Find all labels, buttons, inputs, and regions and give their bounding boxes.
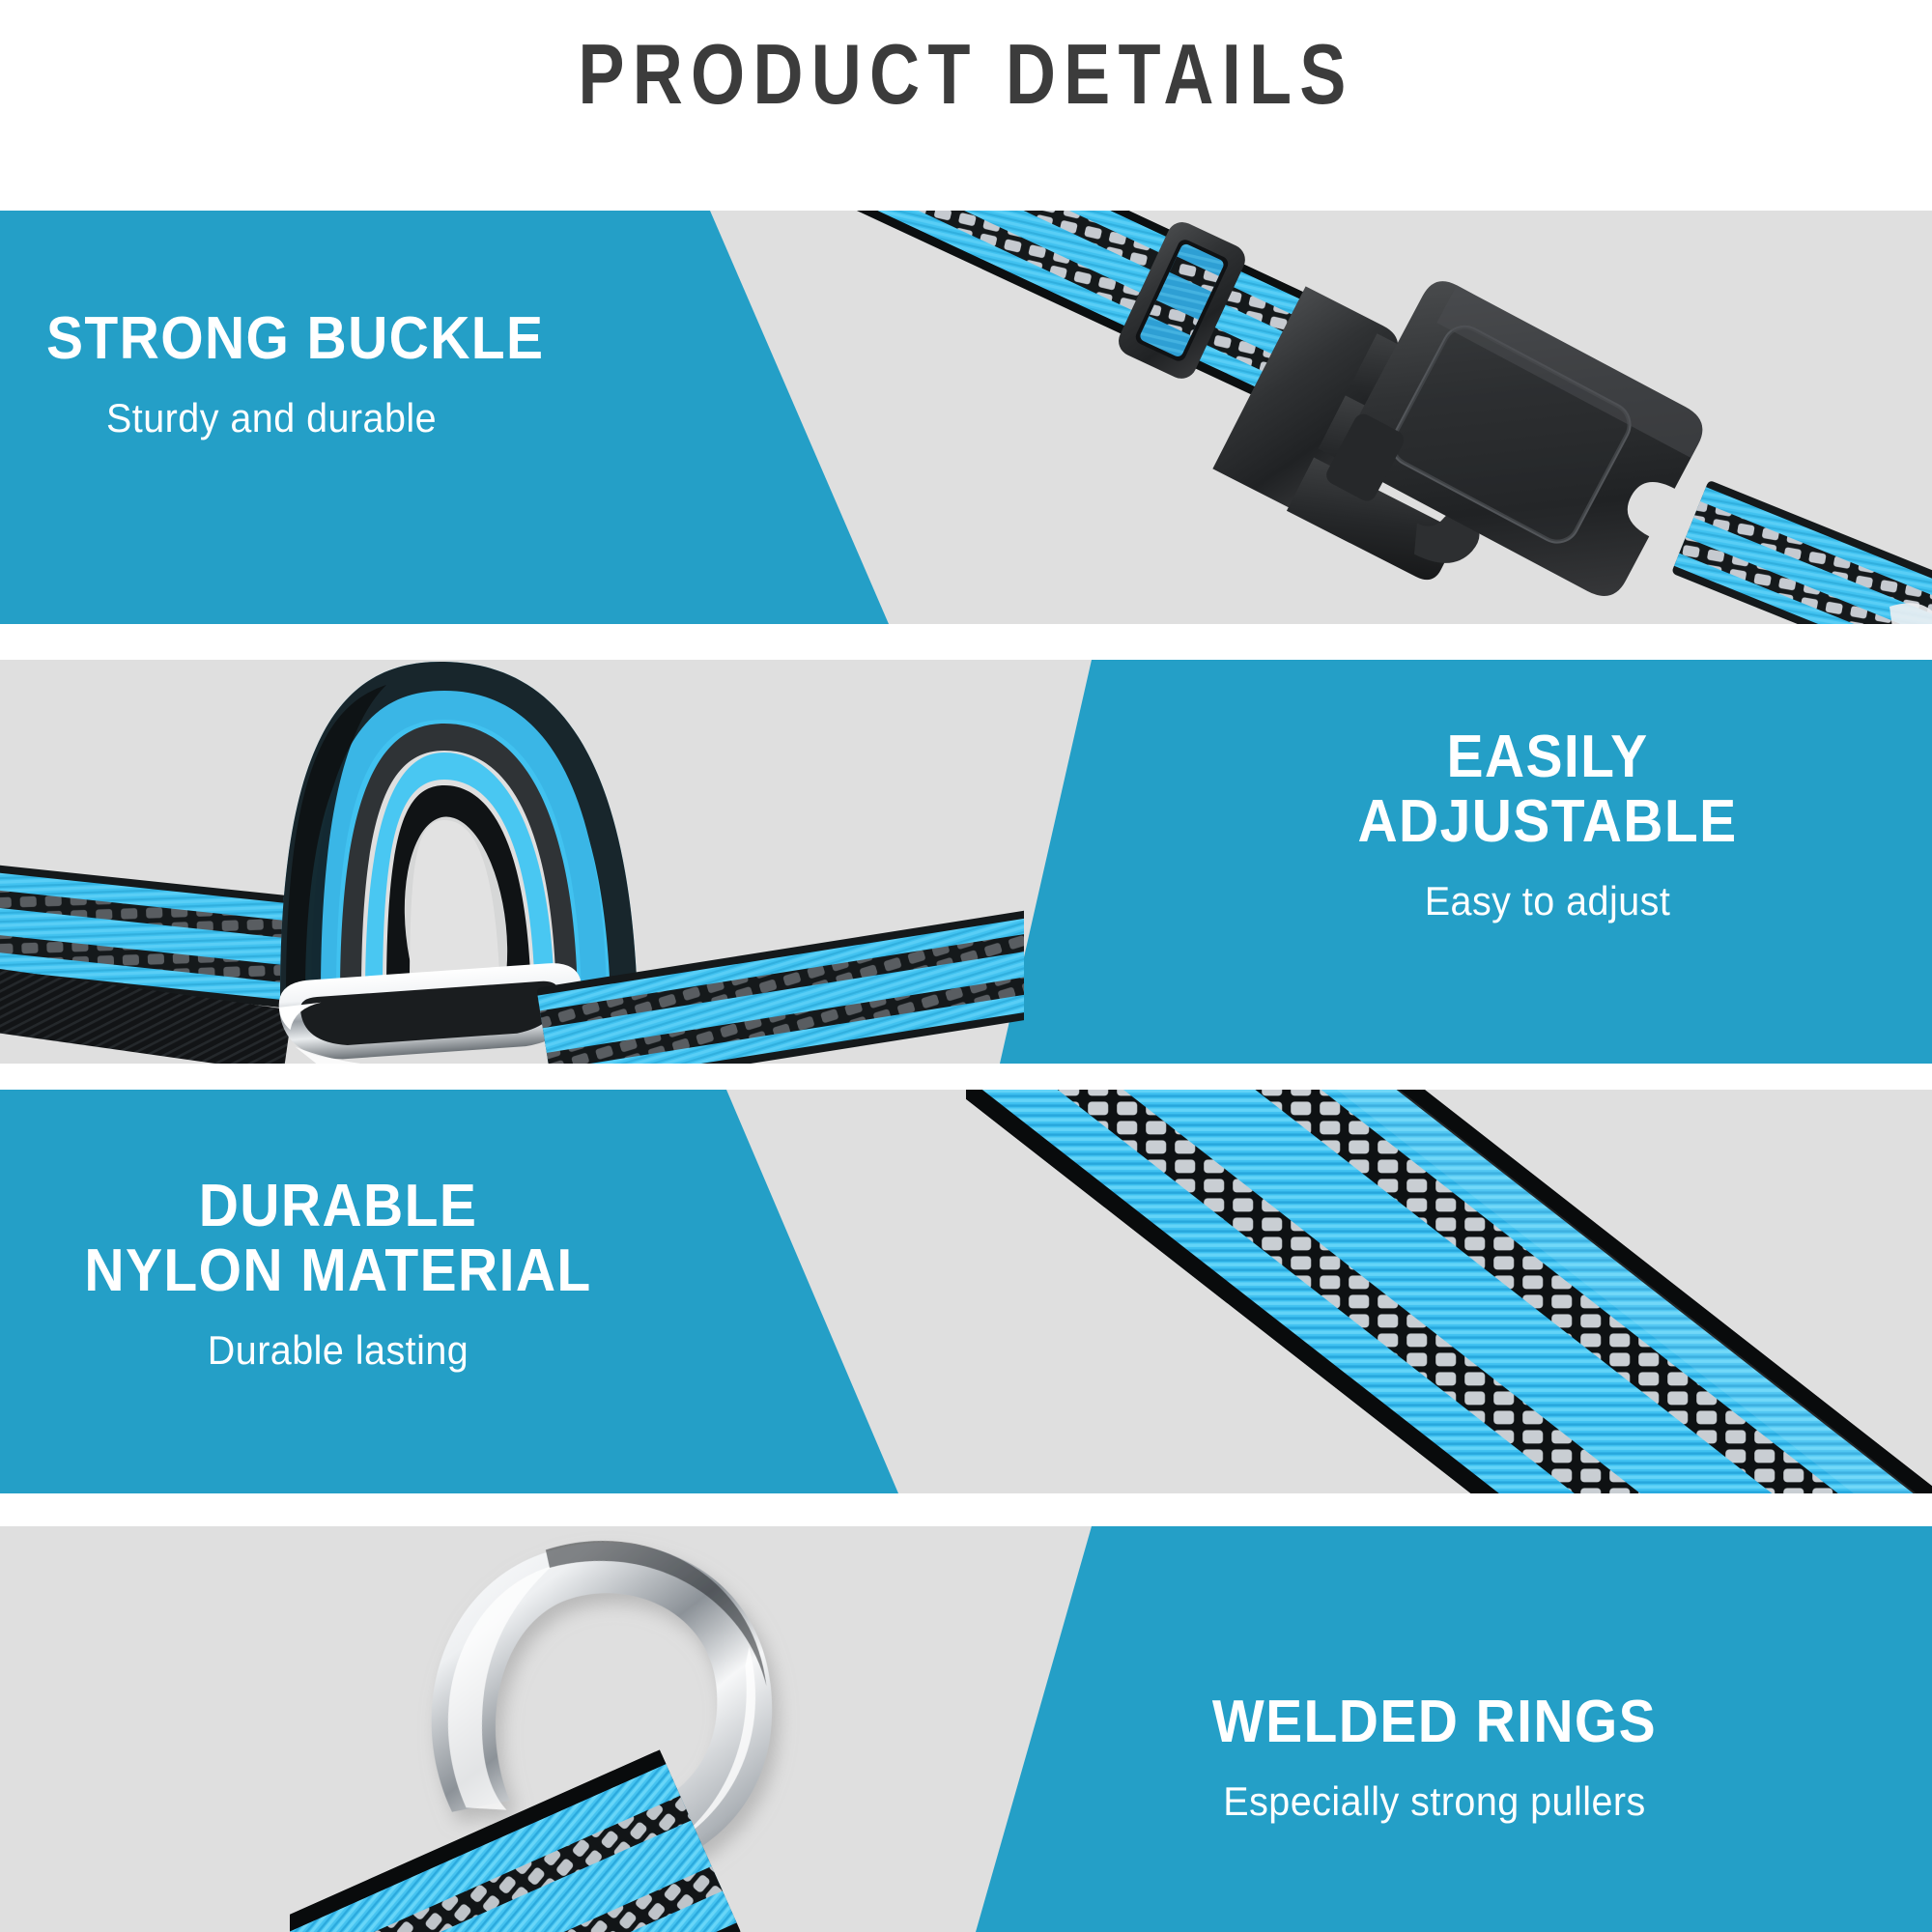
feature-headline-line2: NYLON MATERIAL (63, 1239, 613, 1304)
buckle-image (715, 211, 1932, 624)
feature-headline: WELDED RINGS (1012, 1690, 1857, 1755)
feature-subtext: Especially strong pullers (1004, 1778, 1866, 1825)
feature-subtext: Easy to adjust (1230, 878, 1865, 924)
feature-headline-line1: DURABLE (63, 1175, 613, 1239)
feature-panel-strong-buckle: STRONG BUCKLE Sturdy and durable (0, 211, 1932, 624)
feature-text-welded-rings: WELDED RINGS Especially strong pullers (976, 1690, 1893, 1825)
feature-text-easily-adjustable: EASILY ADJUSTABLE Easy to adjust (1209, 725, 1886, 924)
feature-headline-line1: EASILY (1236, 725, 1859, 790)
feature-subtext: Sturdy and durable (106, 395, 558, 441)
feature-headline: STRONG BUCKLE (46, 307, 544, 372)
feature-panel-easily-adjustable: EASILY ADJUSTABLE Easy to adjust (0, 660, 1932, 1064)
feature-subtext: Durable lasting (57, 1327, 620, 1374)
welded-d-ring-image (290, 1526, 966, 1932)
nylon-webbing-image (966, 1090, 1932, 1493)
adjustable-slider-image (0, 660, 1024, 1064)
feature-headline-line2: ADJUSTABLE (1236, 790, 1859, 855)
page-title: PRODUCT DETAILS (174, 25, 1758, 124)
feature-panel-durable-nylon-material: DURABLE NYLON MATERIAL Durable lasting (0, 1090, 1932, 1493)
feature-panel-welded-rings: WELDED RINGS Especially strong pullers (0, 1526, 1932, 1932)
feature-text-durable-nylon-material: DURABLE NYLON MATERIAL Durable lasting (39, 1175, 638, 1374)
feature-text-strong-buckle: STRONG BUCKLE Sturdy and durable (46, 307, 587, 441)
